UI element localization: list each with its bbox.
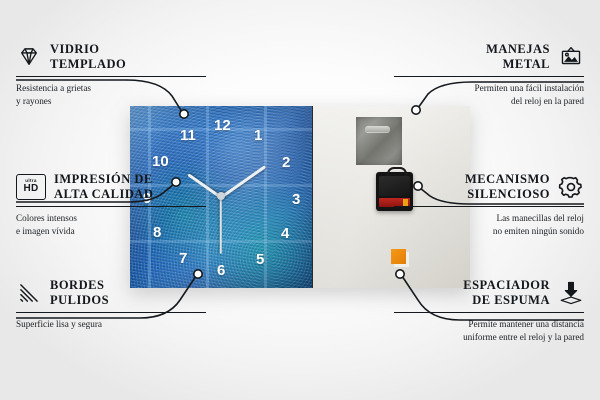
feature-header: VIDRIO TEMPLADO [16,42,206,72]
feature-title: BORDES PULIDOS [50,278,109,308]
feature-title: MECANISMO SILENCIOSO [465,172,550,202]
clock-hand-second [220,197,222,253]
feature-description: Las manecillas del reloj no emiten ningú… [394,212,584,237]
feature-header: MECANISMO SILENCIOSO [394,172,584,202]
clock-numeral-6: 6 [217,263,225,278]
feature-divider [16,312,206,314]
ultra-hd-icon-large-text: HD [23,184,38,194]
metal-hanger [356,117,402,165]
feature-title: IMPRESIÓN DE ALTA CALIDAD [54,172,153,202]
feature-description: Permite mantener una distancia uniforme … [394,318,584,343]
feature-divider [394,76,584,78]
foam-spacer [391,249,406,264]
feature-title: VIDRIO TEMPLADO [50,42,126,72]
feature-vidrio-templado: VIDRIO TEMPLADO Resistencia a grietas y … [16,42,206,107]
hanger-slot [365,126,390,132]
feature-description: Permiten una fácil instalación del reloj… [394,82,584,107]
feature-description: Resistencia a grietas y rayones [16,82,206,107]
diamond-icon [16,44,42,70]
feature-description: Superficie lisa y segura [16,318,206,330]
feature-header: ESPACIADOR DE ESPUMA [394,278,584,308]
clock-numeral-3: 3 [292,192,300,207]
picture-frame-icon [558,44,584,70]
clock-numeral-10: 10 [152,154,169,169]
clock-numeral-11: 11 [180,128,196,143]
arrow-down-stack-icon [558,280,584,306]
feature-divider [16,76,206,78]
feature-header: MANEJAS METAL [394,42,584,72]
feature-header: BORDES PULIDOS [16,278,206,308]
beveled-edge-icon [16,280,42,306]
feature-impresion-alta-calidad: ultra HD IMPRESIÓN DE ALTA CALIDAD Color… [16,172,206,237]
gear-icon [558,174,584,200]
feature-divider [394,206,584,208]
feature-title: ESPACIADOR DE ESPUMA [463,278,550,308]
clock-numeral-5: 5 [256,252,264,267]
feature-description: Colores intensos e imagen vívida [16,212,206,237]
clock-numeral-2: 2 [282,155,290,170]
feature-title: MANEJAS METAL [486,42,550,72]
ultra-hd-icon: ultra HD [16,174,46,200]
clock-hand-hub [217,192,225,200]
infographic-canvas: 12 1 2 3 4 5 6 7 8 9 10 11 [0,0,600,400]
feature-bordes-pulidos: BORDES PULIDOS Superficie lisa y segura [16,278,206,331]
feature-header: ultra HD IMPRESIÓN DE ALTA CALIDAD [16,172,206,202]
clock-numeral-1: 1 [254,128,262,143]
feature-divider [16,206,206,208]
clock-numeral-7: 7 [179,251,187,266]
clock-numeral-12: 12 [214,118,231,133]
feature-divider [394,312,584,314]
feature-manejas-metal: MANEJAS METAL Permiten una fácil instala… [394,42,584,107]
feature-mecanismo-silencioso: MECANISMO SILENCIOSO Las manecillas del … [394,172,584,237]
clock-numeral-4: 4 [281,226,289,241]
feature-espaciador-de-espuma: ESPACIADOR DE ESPUMA Permite mantener un… [394,278,584,343]
